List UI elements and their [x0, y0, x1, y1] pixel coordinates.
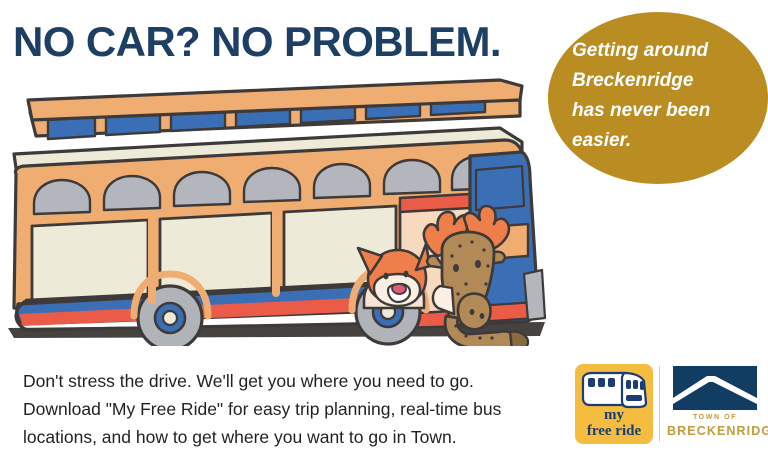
body-copy: Don't stress the drive. We'll get you wh…	[23, 367, 568, 451]
body-line-1: Don't stress the drive. We'll get you wh…	[23, 367, 568, 395]
bubble-line-4: easier.	[572, 126, 758, 156]
my-free-ride-line-1: my	[575, 408, 653, 423]
my-free-ride-line-2: free ride	[575, 423, 653, 440]
breckenridge-label: BRECKENRIDGE	[667, 424, 763, 438]
breckenridge-mountain-mark	[667, 364, 763, 412]
logo-group: my free ride TOWN OF BRECKENRIDGE	[575, 362, 765, 450]
bubble-line-1: Getting around	[572, 36, 758, 66]
town-of-breckenridge-logo[interactable]: TOWN OF BRECKENRIDGE	[667, 364, 763, 446]
speech-bubble-text: Getting around Breckenridge has never be…	[572, 36, 758, 156]
bubble-line-2: Breckenridge	[572, 66, 758, 96]
my-free-ride-wordmark: my free ride	[575, 408, 653, 440]
town-of-label: TOWN OF	[667, 414, 763, 421]
poster-canvas: NO CAR? NO PROBLEM. Getting around Breck…	[0, 0, 768, 462]
body-line-2: Download "My Free Ride" for easy trip pl…	[23, 395, 568, 423]
my-free-ride-bus-icon	[580, 369, 650, 411]
trolley-bus-illustration	[0, 78, 575, 346]
my-free-ride-logo[interactable]: my free ride	[575, 364, 653, 448]
bubble-line-3: has never been	[572, 96, 758, 126]
body-line-3: locations, and how to get where you want…	[23, 423, 568, 451]
page-title: NO CAR? NO PROBLEM.	[13, 18, 501, 66]
logo-divider	[659, 366, 660, 442]
